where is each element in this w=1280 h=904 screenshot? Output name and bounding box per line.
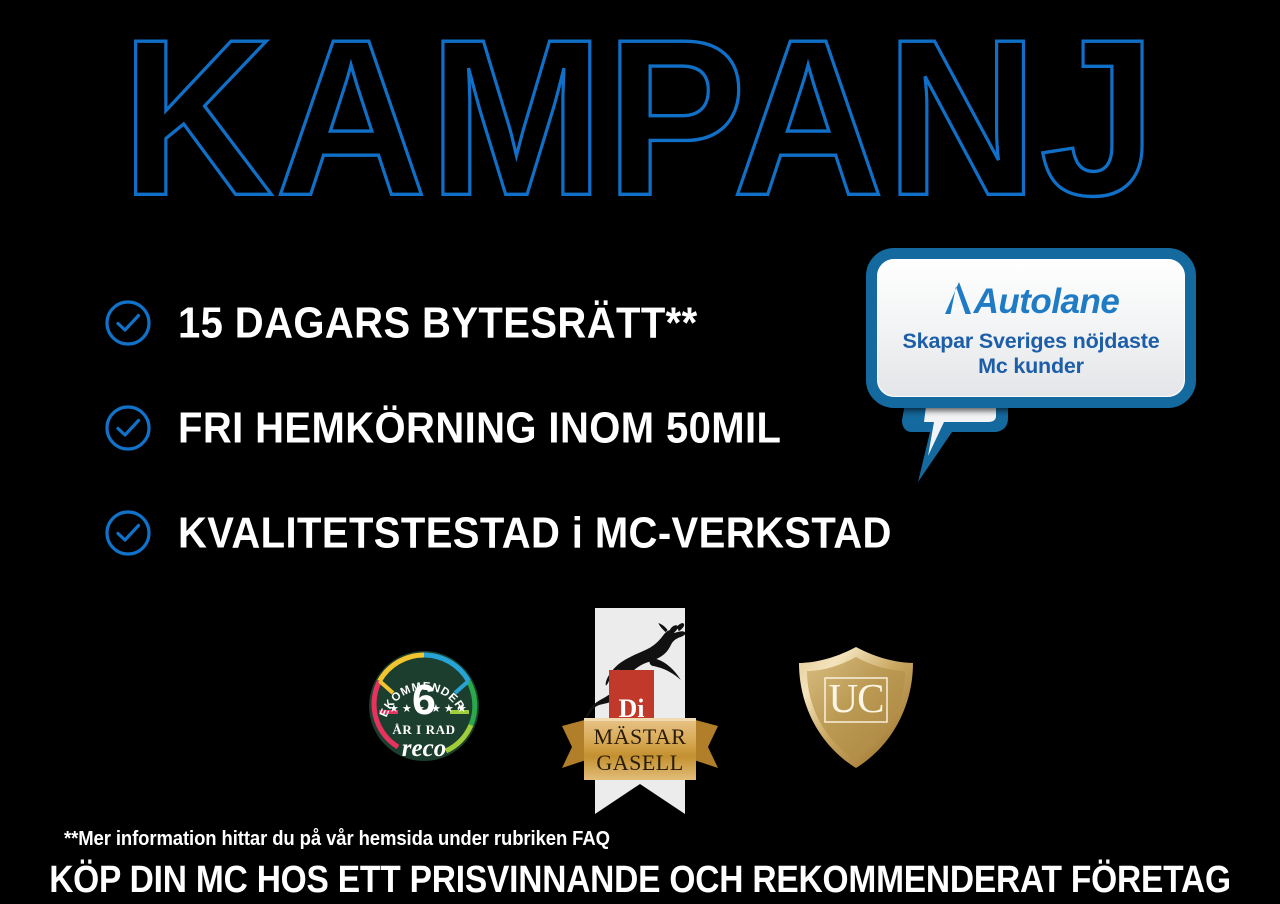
speech-bubble: Autolane Skapar Sveriges nöjdaste Mc kun…: [866, 248, 1196, 408]
page-title: KAMPANJ: [122, 12, 1159, 224]
bubble-tagline-line2: Mc kunder: [903, 354, 1160, 379]
reco-badge: REKOMMENDERAT ★ ★ ★ ★ ★ ★ 6 ÅR I RAD rec…: [368, 650, 480, 762]
benefits-list: 15 DAGARS BYTESRÄTT** FRI HEMKÖRNING INO…: [104, 292, 884, 607]
autolane-logo: Autolane: [943, 281, 1120, 323]
circle-check-icon: [104, 404, 152, 452]
gasell-ribbon-line1: MÄSTAR: [562, 724, 718, 750]
reco-years-number: 6: [368, 679, 480, 722]
list-item: 15 DAGARS BYTESRÄTT**: [104, 292, 884, 354]
campaign-poster: KAMPANJ 15 DAGARS BYTESRÄTT** FRI HEMKÖR…: [0, 0, 1280, 904]
footnote-text: **Mer information hittar du på vår hemsi…: [64, 826, 610, 851]
autolane-wordmark: Autolane: [974, 283, 1120, 321]
reco-wordmark: reco: [368, 735, 480, 763]
uc-wordmark: UC: [796, 678, 916, 719]
bubble-tagline: Skapar Sveriges nöjdaste Mc kunder: [903, 329, 1160, 379]
di-mastargasell-badge: Di MÄSTAR GASELL: [562, 608, 718, 814]
speech-bubble-tail: [900, 396, 1020, 488]
autolane-lane-a-icon: [943, 281, 973, 323]
benefit-label: FRI HEMKÖRNING INOM 50MIL: [178, 404, 781, 452]
gasell-ribbon-line2: GASELL: [562, 750, 718, 776]
speech-bubble-content: Autolane Skapar Sveriges nöjdaste Mc kun…: [877, 259, 1185, 397]
list-item: FRI HEMKÖRNING INOM 50MIL: [104, 397, 884, 459]
benefit-label: KVALITETSTESTAD i MC-VERKSTAD: [178, 509, 892, 557]
uc-shield-badge: UC: [796, 645, 916, 770]
circle-check-icon: [104, 509, 152, 557]
award-badges: REKOMMENDERAT ★ ★ ★ ★ ★ ★ 6 ÅR I RAD rec…: [0, 600, 1280, 820]
bubble-tagline-line1: Skapar Sveriges nöjdaste: [903, 329, 1160, 354]
title-container: KAMPANJ: [0, 18, 1280, 218]
circle-check-icon: [104, 299, 152, 347]
gasell-ribbon-text: MÄSTAR GASELL: [562, 724, 718, 776]
benefit-label: 15 DAGARS BYTESRÄTT**: [178, 299, 698, 347]
list-item: KVALITETSTESTAD i MC-VERKSTAD: [104, 502, 884, 564]
footer-tagline: KÖP DIN MC HOS ETT PRISVINNANDE OCH REKO…: [0, 859, 1280, 902]
